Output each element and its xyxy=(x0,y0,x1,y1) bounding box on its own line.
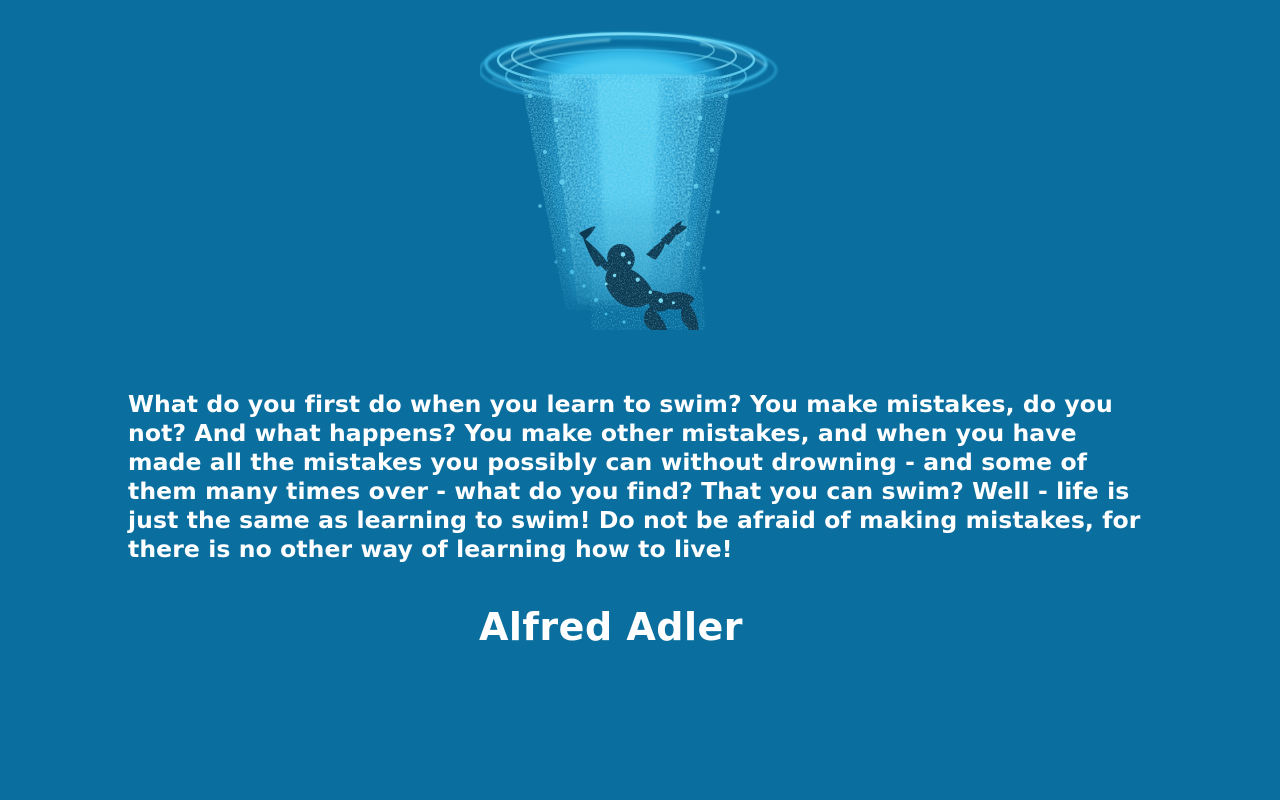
author-name: Alfred Adler xyxy=(479,602,743,652)
underwater-splash-illustration xyxy=(0,0,1280,330)
sinking-figure-silhouette xyxy=(579,221,707,330)
quote-block: What do you first do when you learn to s… xyxy=(128,390,1152,564)
quote-poster: What do you first do when you learn to s… xyxy=(0,0,1280,800)
author-block: Alfred Adler xyxy=(0,602,1222,652)
quote-text: What do you first do when you learn to s… xyxy=(128,390,1152,564)
